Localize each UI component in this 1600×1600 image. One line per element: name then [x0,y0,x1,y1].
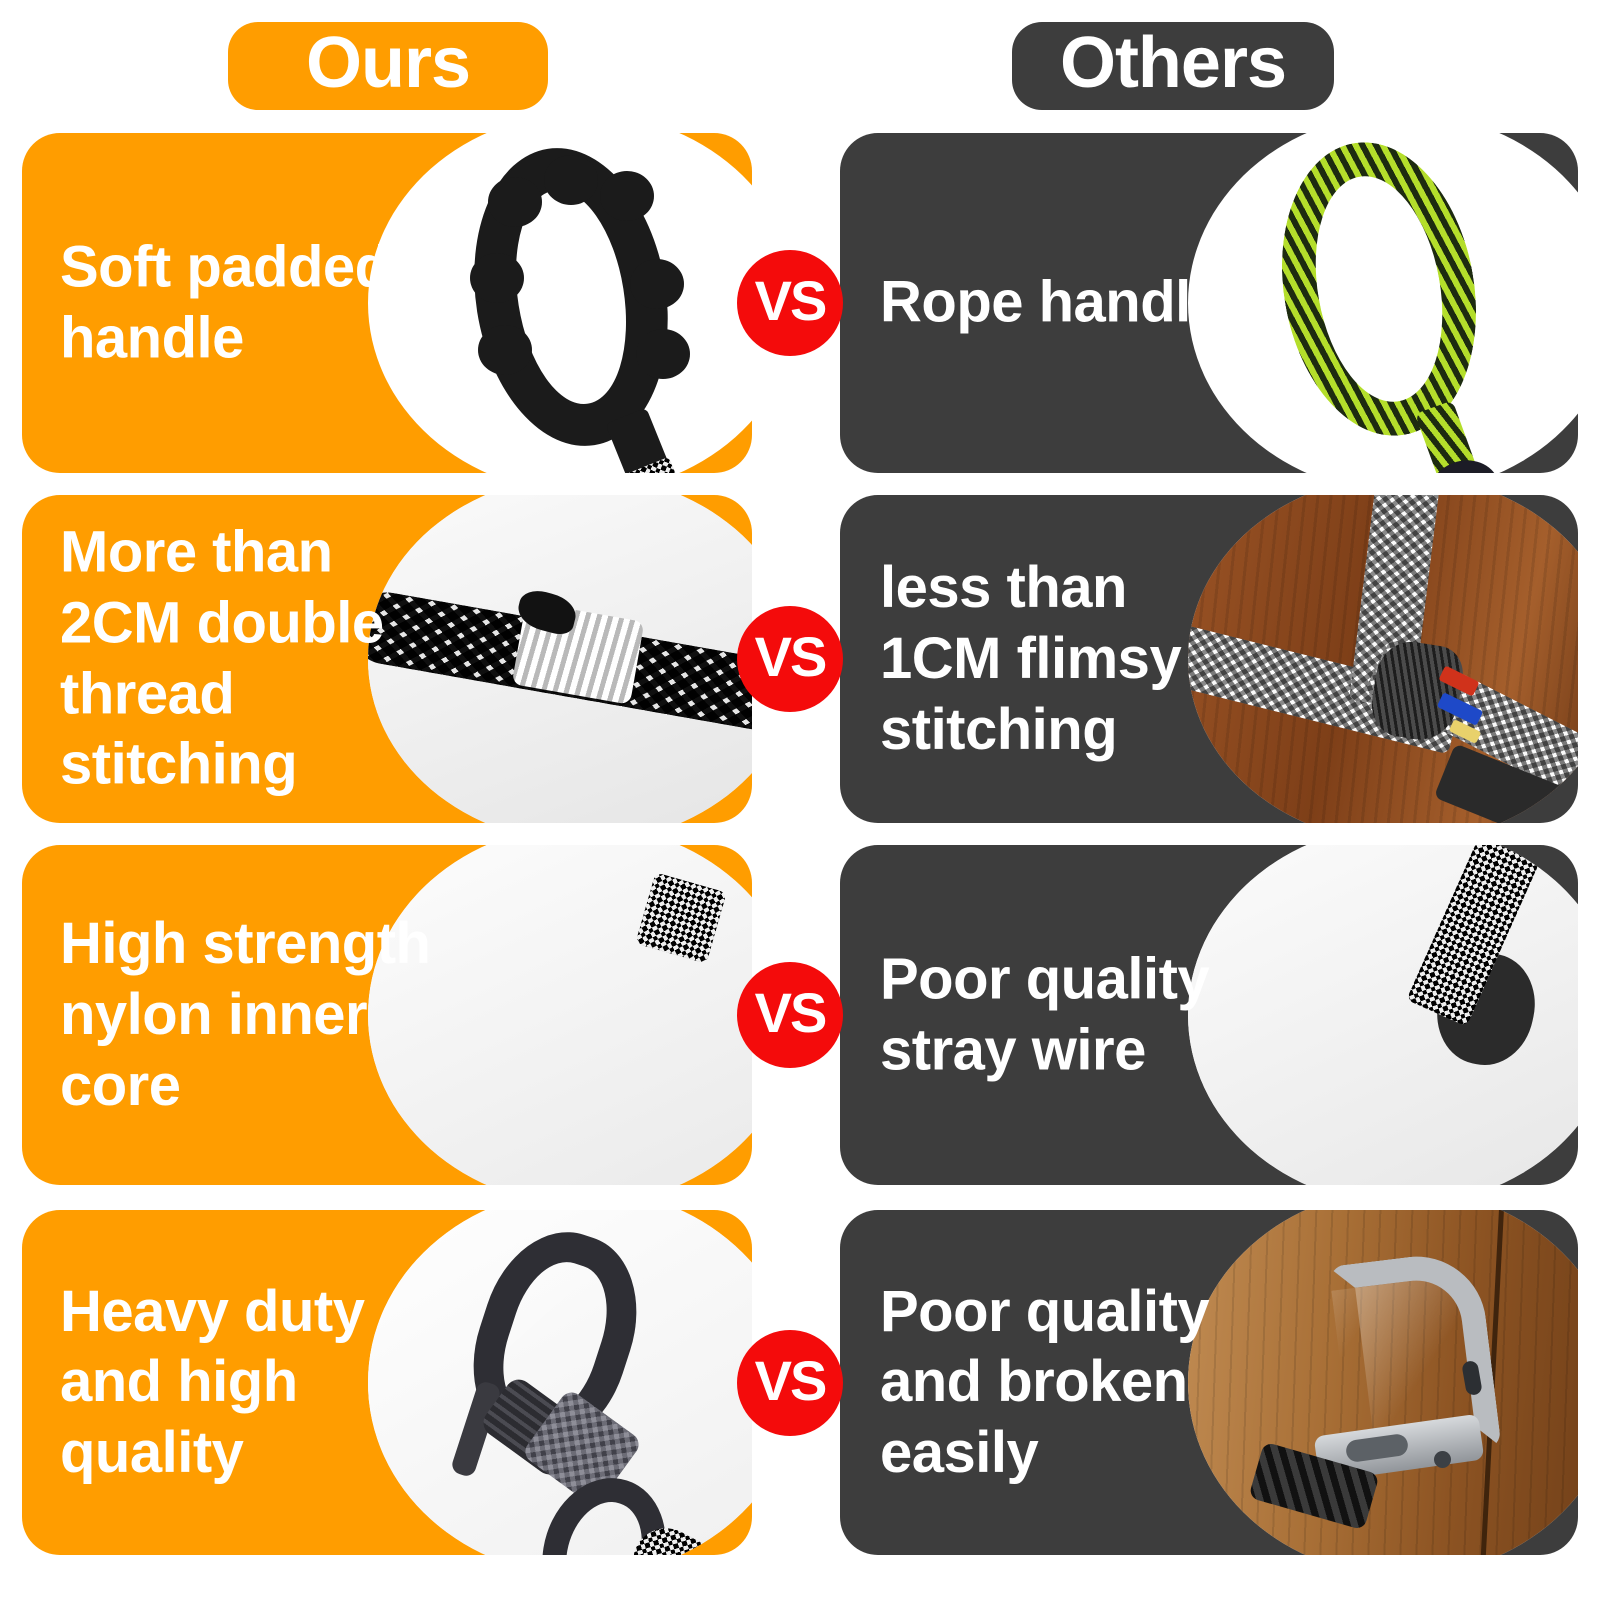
comparison-row-3: High strength nylon inner core VS Poor q… [0,845,1600,1185]
column-header-ours: Ours [228,22,548,110]
vs-badge-4: VS [737,1330,843,1436]
comparison-row-4: Heavy duty and high quality VS Poor qual… [0,1210,1600,1555]
pad-bump-icon [470,253,524,303]
pad-bump-icon [478,325,532,375]
ours-card-2: More than 2CM double thread stitching [22,495,752,823]
pad-bump-icon [544,155,598,205]
others-label-1: Rope handle [880,268,1250,339]
vs-badge-3: VS [737,962,843,1068]
vs-badge-1: VS [737,250,843,356]
pad-bump-icon [636,329,690,379]
braid-knot-shape [635,872,727,964]
others-card-3: Poor quality stray wire [840,845,1578,1185]
ours-label-1: Soft padded handle [60,232,460,374]
ours-card-1: Soft padded handle [22,133,752,473]
comparison-row-2: More than 2CM double thread stitching VS… [0,495,1600,823]
others-card-4: Poor quality and broken easily [840,1210,1578,1555]
others-card-2: less than 1CM flimsy stitching [840,495,1578,823]
others-card-1: Rope handle [840,133,1578,473]
pad-bump-icon [600,171,654,221]
ours-card-3: High strength nylon inner core [22,845,752,1185]
comparison-row-1: Soft padded handle VS Rope handle [0,133,1600,473]
others-label-2: less than 1CM flimsy stitching [880,553,1250,765]
vs-badge-2: VS [737,606,843,712]
nylon-strand [732,845,752,929]
ours-label-4: Heavy duty and high quality [60,1276,460,1488]
ours-card-4: Heavy duty and high quality [22,1210,752,1555]
ours-label-2: More than 2CM double thread stitching [60,518,460,801]
column-header-others: Others [1012,22,1334,110]
ours-label-3: High strength nylon inner core [60,909,460,1121]
pad-bump-icon [630,259,684,309]
pad-bump-icon [488,177,542,227]
others-label-3: Poor quality stray wire [880,944,1250,1086]
comparison-infographic: Ours Others Soft padded handle [0,0,1600,1600]
others-label-4: Poor quality and broken easily [880,1276,1250,1488]
rope-loop-shape [1260,133,1499,451]
